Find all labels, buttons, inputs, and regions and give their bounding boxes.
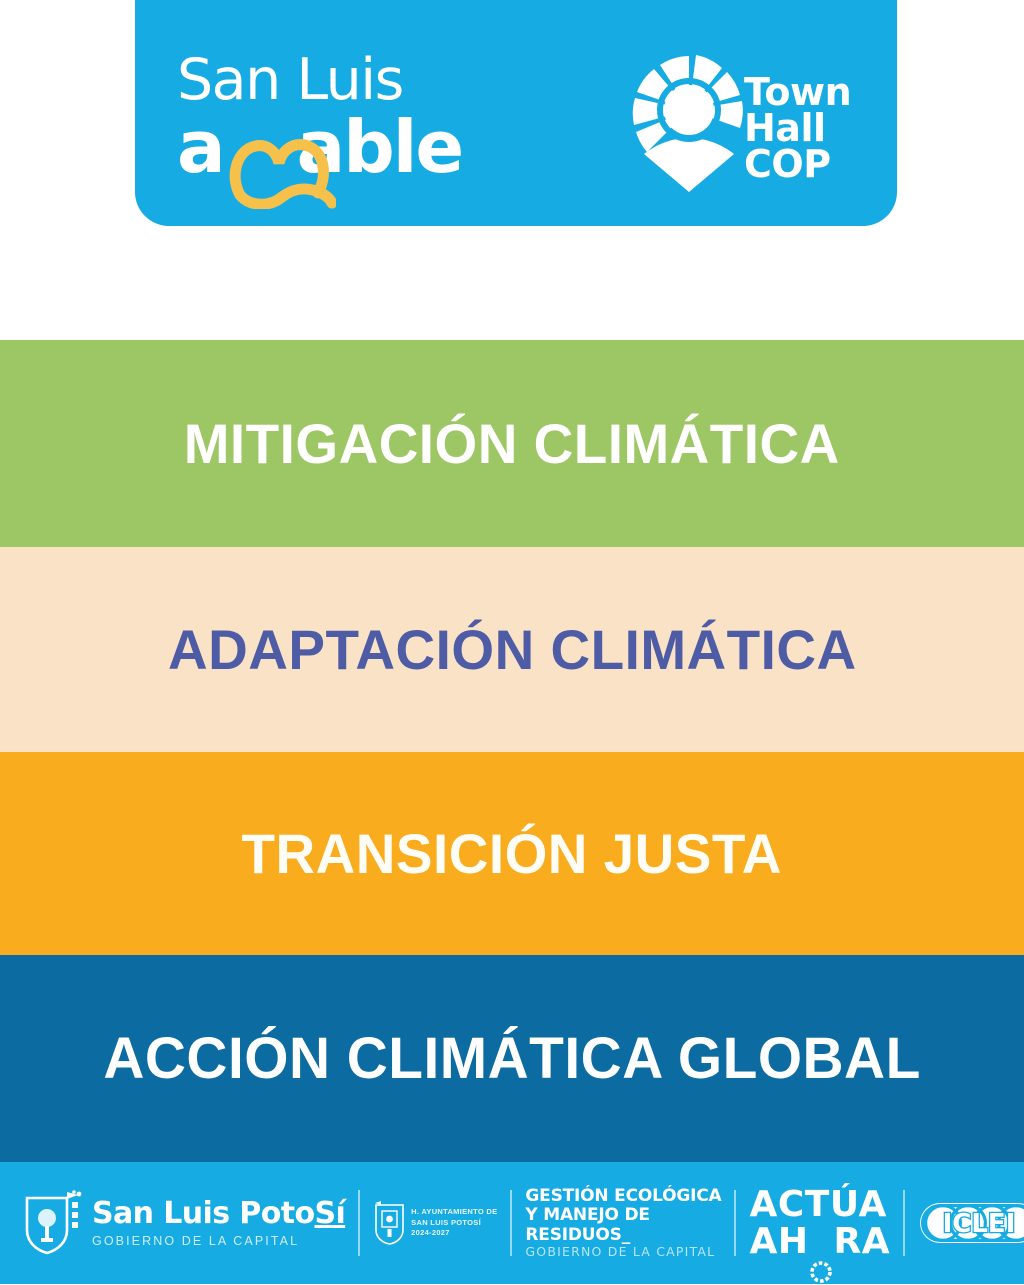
band-adaptacion-climatica: ADAPTACIÓN CLIMÁTICA [0, 547, 1024, 752]
band-mitigacion-climatica: MITIGACIÓN CLIMÁTICA [0, 340, 1024, 547]
iclei-logo-text: ICLEI [943, 1209, 1016, 1239]
slp-title-a: San Luis Poto [92, 1196, 314, 1231]
actua-ahora-wordmark: ACTÚA AH RA [749, 1186, 890, 1260]
footer-actua-ahora-block: ACTÚA AH RA [749, 1186, 890, 1260]
townhall-line-town: Town [744, 74, 851, 110]
gestion-line2: Y MANEJO DE [525, 1206, 721, 1225]
actua-line1: ACTÚA [749, 1186, 890, 1223]
slp-wordmark: San Luis PotoSí GOBIERNO DE LA CAPITAL [92, 1199, 345, 1248]
ayuntamiento-line1: H. AYUNTAMIENTO DE [411, 1207, 497, 1218]
footer-divider-3 [734, 1190, 736, 1256]
town-hall-cop-wordmark: Town Hall COP [744, 74, 851, 182]
townhall-line-cop: COP [744, 146, 851, 182]
band-transicion-justa: TRANSICIÓN JUSTA [0, 752, 1024, 955]
footer-slp-government-logo: San Luis PotoSí GOBIERNO DE LA CAPITAL [22, 1190, 345, 1256]
actua-line2: AH RA [749, 1223, 890, 1260]
brand-line-san-luis: San Luis [177, 52, 477, 109]
gestion-line3: RESIDUOS_ [525, 1226, 721, 1245]
iclei-logo-icon: ICLEI [918, 1199, 1024, 1247]
footer-divider-4 [903, 1190, 905, 1256]
footer-iclei-block: ICLEI Gobiernos Locales por la Sustentab… [918, 1199, 1024, 1247]
gestion-line1: GESTIÓN ECOLÓGICA [525, 1187, 721, 1206]
ayuntamiento-text: H. AYUNTAMIENTO DE SAN LUIS POTOSÍ 2024-… [411, 1207, 497, 1240]
header-area: San Luis amable [0, 0, 1024, 320]
footer-gestion-block: GESTIÓN ECOLÓGICA Y MANEJO DE RESIDUOS_ … [525, 1187, 721, 1259]
slp-subtitle: GOBIERNO DE LA CAPITAL [92, 1234, 345, 1248]
brand-line-amable: amable [177, 111, 462, 183]
gestion-text: GESTIÓN ECOLÓGICA Y MANEJO DE RESIDUOS_ … [525, 1187, 721, 1259]
band-label-transicion: TRANSICIÓN JUSTA [242, 821, 782, 886]
header-logo-card: San Luis amable [135, 0, 897, 226]
slp-title: San Luis PotoSí [92, 1199, 345, 1229]
footer-divider-2 [510, 1190, 512, 1256]
sdg-ring-icon [808, 1259, 834, 1285]
band-label-accion: ACCIÓN CLIMÁTICA GLOBAL [103, 1025, 920, 1092]
brand-line-amable-wrap: amable [177, 111, 477, 187]
footer-bar: San Luis PotoSí GOBIERNO DE LA CAPITAL H… [0, 1162, 1024, 1284]
footer-divider-1 [358, 1190, 360, 1256]
band-label-mitigacion: MITIGACIÓN CLIMÁTICA [184, 411, 840, 476]
san-luis-potosi-shield-icon [22, 1190, 84, 1256]
band-label-adaptacion: ADAPTACIÓN CLIMÁTICA [168, 617, 857, 682]
slp-title-b: Sí [314, 1196, 345, 1231]
actua-line2-pre: AH [749, 1221, 808, 1262]
townhall-line-hall: Hall [744, 110, 851, 146]
actua-line2-post: RA [833, 1221, 890, 1262]
gestion-line4: GOBIERNO DE LA CAPITAL [525, 1245, 721, 1259]
ayuntamiento-crest-icon [373, 1200, 406, 1246]
san-luis-amable-logo: San Luis amable [177, 52, 477, 187]
band-accion-climatica-global: ACCIÓN CLIMÁTICA GLOBAL [0, 955, 1024, 1162]
town-hall-cop-logo: Town Hall COP [630, 48, 851, 194]
ayuntamiento-line2: SAN LUIS POTOSÍ [411, 1218, 497, 1229]
town-hall-cop-pin-sun-icon [630, 48, 748, 194]
ayuntamiento-line3: 2024-2027 [411, 1228, 497, 1239]
footer-ayuntamiento-block: H. AYUNTAMIENTO DE SAN LUIS POTOSÍ 2024-… [373, 1200, 497, 1246]
